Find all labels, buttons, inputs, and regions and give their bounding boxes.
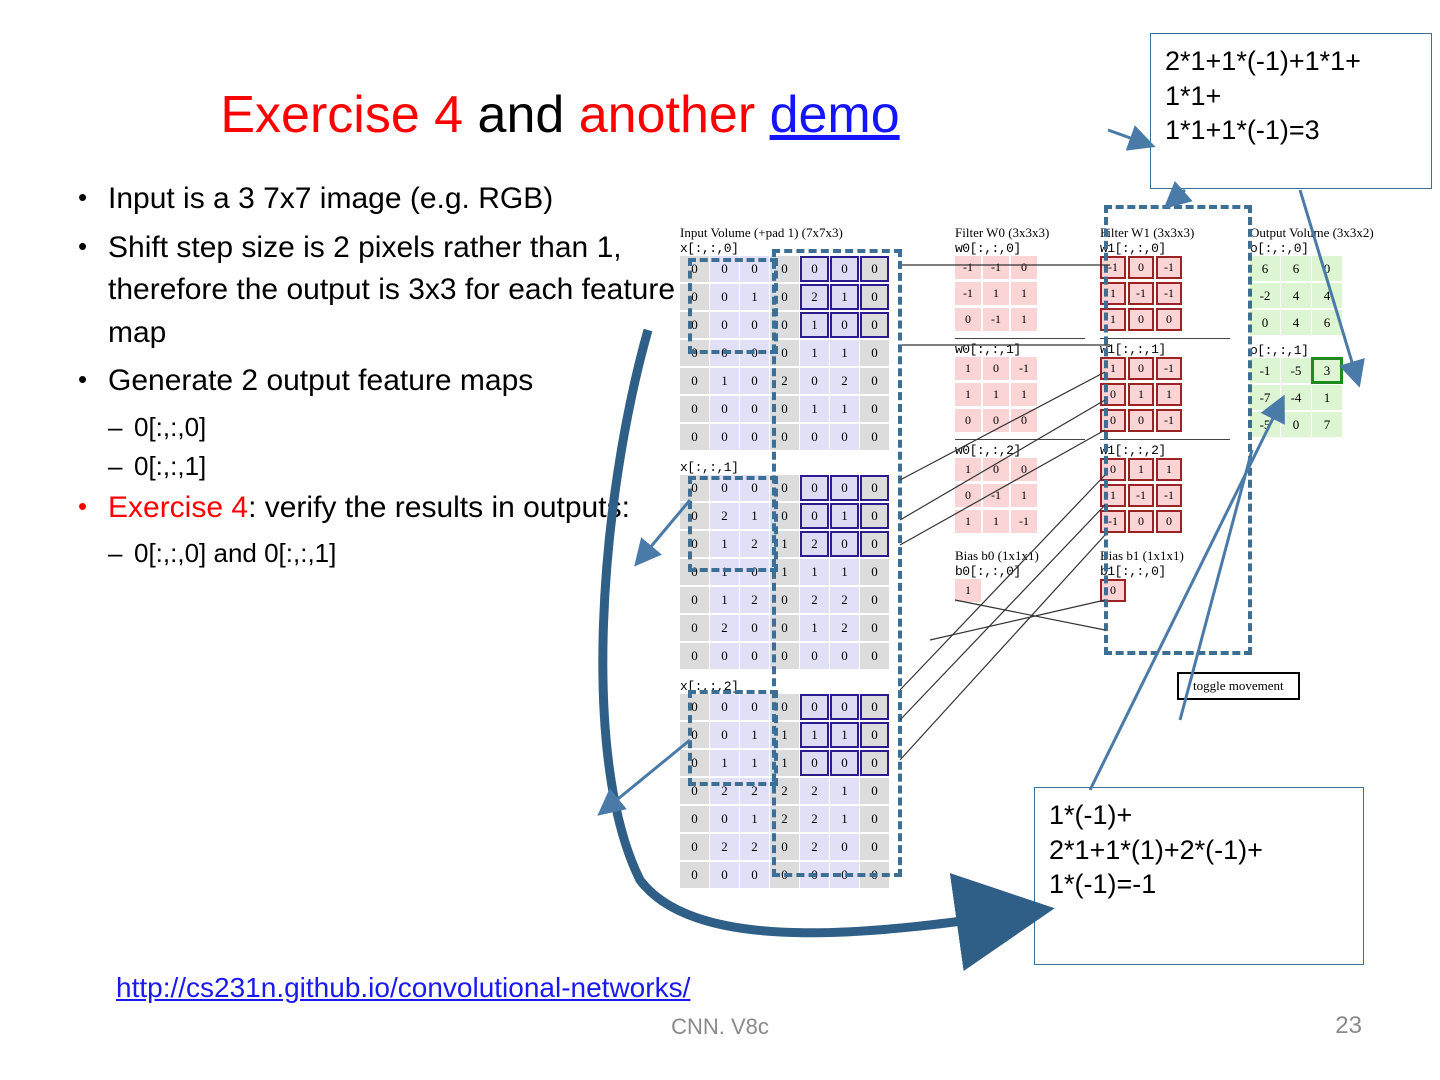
bullet-item-exercise: • Exercise 4: verify the results in outp… [78,487,678,530]
bullet-dot-icon: • [78,360,108,403]
spacer [680,671,905,679]
matrix-cell: 0 [1011,458,1037,481]
matrix-cell: 0 [710,722,739,748]
matrix-cell: 0 [1128,510,1154,533]
filter-w1-header: Filter W1 (3x3x3) [1100,225,1230,241]
matrix-cell: -1 [955,256,981,279]
filter-slice-label: w1[:,:,0] [1100,241,1230,256]
matrix-cell: 1 [1128,383,1154,406]
matrix-cell: 1 [830,722,859,748]
matrix-cell: 0 [1156,510,1182,533]
matrix-cell: 0 [740,368,769,394]
filter-w0-header: Filter W0 (3x3x3) [955,225,1085,241]
matrix-cell: 4 [1312,283,1342,308]
matrix-cell: -1 [983,256,1009,279]
filter-slice-label: w0[:,:,2] [955,443,1085,458]
matrix-cell: 1 [955,383,981,406]
annotation-top-box: 2*1+1*(-1)+1*1+ 1*1+ 1*1+1*(-1)=3 [1150,33,1432,189]
matrix-cell: 0 [710,694,739,720]
matrix-cell: 2 [740,531,769,557]
matrix-cell: 0 [740,475,769,501]
matrix-cell: 1 [830,284,859,310]
bullet-text: Exercise 4: verify the results in output… [108,487,678,530]
matrix-cell: 0 [1100,409,1126,432]
matrix-cell: 0 [680,615,709,641]
filter-w0-slices: w0[:,:,0]-1-10-1110-11w0[:,:,1]10-111100… [955,241,1085,536]
reference-link[interactable]: http://cs231n.github.io/convolutional-ne… [116,972,690,1004]
matrix-cell: 1 [983,383,1009,406]
matrix-cell: 0 [710,340,739,366]
matrix-grid: 0000000001021000001000000110010202000001… [680,256,905,452]
matrix-cell: 1 [1156,383,1182,406]
matrix-cell: 0 [770,615,799,641]
matrix-cell: 0 [710,643,739,669]
annotation-top-line-2: 1*1+ [1165,79,1417,114]
matrix-cell: 0 [800,643,829,669]
matrix-cell: 0 [860,424,889,450]
matrix-cell: 2 [800,284,829,310]
matrix-cell: 0 [860,694,889,720]
matrix-cell: 1 [1100,484,1126,507]
matrix-cell: 0 [800,694,829,720]
matrix-cell: 0 [1128,256,1154,279]
sub-bullet-item: – 0[:,:,0] [108,409,678,446]
title-part-another: another [579,86,770,144]
matrix-cell: -1 [1011,510,1037,533]
matrix-cell: 0 [860,396,889,422]
matrix-cell: -2 [1250,283,1280,308]
matrix-cell: 0 [680,722,709,748]
matrix-cell: 0 [770,256,799,282]
matrix-cell: 2 [800,587,829,613]
matrix-separator [955,338,1085,339]
matrix-cell: 0 [983,409,1009,432]
sub-bullet-text: 0[:,:,1] [134,448,678,485]
matrix-cell: 0 [740,862,769,888]
matrix-cell: 0 [680,284,709,310]
filter-w0-column: Filter W0 (3x3x3) w0[:,:,0]-1-10-1110-11… [955,225,1085,605]
matrix-cell: 0 [1100,383,1126,406]
matrix-grid: 10-1111000 [955,357,1085,435]
matrix-cell: -1 [1156,484,1182,507]
filter-slice-label: w0[:,:,0] [955,241,1085,256]
bullet-dot-icon: • [78,227,108,355]
matrix-cell: 0 [955,409,981,432]
matrix-cell: 1 [800,615,829,641]
matrix-cell: 1 [983,282,1009,305]
matrix-cell: -1 [983,484,1009,507]
matrix-cell: -1 [1128,282,1154,305]
matrix-cell: 1 [1011,282,1037,305]
demo-link[interactable]: demo [770,86,900,144]
matrix-cell: 0 [770,587,799,613]
matrix-cell: 2 [800,806,829,832]
footer-label: CNN. V8c [0,1014,1440,1040]
output-slice-label: o[:,:,0] [1250,241,1410,256]
matrix-cell: 1 [830,340,859,366]
matrix-cell: 0 [680,862,709,888]
matrix-cell: 0 [770,694,799,720]
matrix-cell: 0 [710,256,739,282]
matrix-cell: -4 [1281,385,1311,410]
matrix-cell: -1 [955,282,981,305]
matrix-cell: 1 [830,778,859,804]
matrix-cell: 1 [1011,308,1037,331]
matrix-cell: -1 [1156,256,1182,279]
matrix-cell: 0 [800,475,829,501]
matrix-cell: 0 [955,484,981,507]
matrix-cell: 2 [830,615,859,641]
matrix-cell: 0 [770,340,799,366]
matrix-cell: 1 [800,722,829,748]
matrix-cell: 0 [710,424,739,450]
matrix-cell: 0 [830,834,859,860]
matrix-cell: 0 [955,308,981,331]
bullet-text: Generate 2 output feature maps [108,360,678,403]
matrix-cell: 1 [800,396,829,422]
matrix-cell: 0 [680,475,709,501]
dash-icon: – [108,448,134,485]
matrix-cell: 1 [830,503,859,529]
matrix-cell: 0 [740,615,769,641]
matrix-cell: 2 [770,778,799,804]
matrix-cell: 0 [860,722,889,748]
exercise-rest: : verify the results in outputs: [248,491,630,524]
sub-bullet-item: – 0[:,:,0] and 0[:,:,1] [108,535,678,572]
matrix-cell: 0 [860,256,889,282]
matrix-grid: -1-53-7-41-507 [1250,358,1410,439]
matrix-cell: 0 [770,643,799,669]
matrix-cell: 0 [800,368,829,394]
matrix-cell: 0 [770,834,799,860]
matrix-cell: 0 [770,312,799,338]
matrix-cell: 1 [770,750,799,776]
matrix-cell: -1 [1156,409,1182,432]
matrix-cell: 0 [680,368,709,394]
matrix-cell: 4 [1281,310,1311,335]
matrix-cell: 1 [955,458,981,481]
matrix-cell: 1 [740,503,769,529]
input-slice-label: x[:,:,1] [680,460,905,475]
matrix-cell: 2 [710,778,739,804]
title-part-and: and [463,86,579,144]
dash-icon: – [108,409,134,446]
matrix-cell: 0 [680,694,709,720]
matrix-cell: 0 [770,862,799,888]
matrix-cell: 0 [830,424,859,450]
matrix-cell: 1 [1100,308,1126,331]
page-number: 23 [1335,1012,1362,1040]
matrix-cell: 2 [770,806,799,832]
matrix-cell: 0 [680,778,709,804]
bullet-item: • Input is a 3 7x7 image (e.g. RGB) [78,178,678,221]
matrix-grid: -10-11-1-1100 [1100,256,1230,334]
filter-slice-label: w0[:,:,1] [955,342,1085,357]
matrix-cell: 0 [740,312,769,338]
matrix-cell: -5 [1281,358,1311,383]
matrix-cell: 0 [830,312,859,338]
matrix-cell: 2 [710,503,739,529]
matrix-cell: 2 [710,834,739,860]
matrix-cell: 0 [800,503,829,529]
page-title: Exercise 4 and another demo [0,88,1120,143]
matrix-cell: 0 [740,694,769,720]
matrix-cell: 0 [680,256,709,282]
matrix-cell: 3 [1312,358,1342,383]
bias-b0-header: Bias b0 (1x1x1) [955,548,1085,564]
matrix-cell: -1 [1156,357,1182,380]
bullet-text: Input is a 3 7x7 image (e.g. RGB) [108,178,678,221]
matrix-cell: 0 [680,587,709,613]
matrix-cell: 1 [800,559,829,585]
matrix-cell: 6 [1312,310,1342,335]
matrix-cell: 0 [830,862,859,888]
matrix-cell: 1 [800,340,829,366]
annotation-bottom-line-2: 2*1+1*(1)+2*(-1)+ [1049,833,1349,868]
matrix-cell: 0 [680,312,709,338]
matrix-cell: 0 [740,643,769,669]
bias-b1-cell: 0 [1100,579,1126,602]
matrix-cell: 0 [680,750,709,776]
filter-w1-column: Filter W1 (3x3x3) w1[:,:,0]-10-11-1-1100… [1100,225,1230,605]
matrix-cell: 0 [680,834,709,860]
bias-b1-header: Bias b1 (1x1x1) [1100,548,1230,564]
matrix-grid: 660-244046 [1250,256,1410,337]
matrix-cell: 1 [710,559,739,585]
matrix-cell: 0 [1011,256,1037,279]
matrix-cell: 0 [710,806,739,832]
matrix-cell: 0 [740,424,769,450]
matrix-cell: 0 [1281,412,1311,437]
input-volume-header: Input Volume (+pad 1) (7x7x3) [680,225,905,241]
matrix-cell: 0 [740,559,769,585]
matrix-separator [955,439,1085,440]
matrix-cell: 1 [740,806,769,832]
matrix-cell: 7 [1312,412,1342,437]
input-slice-label: x[:,:,2] [680,679,905,694]
matrix-cell: 1 [955,357,981,380]
matrix-cell: 2 [830,368,859,394]
matrix-cell: 2 [770,368,799,394]
matrix-cell: 1 [1156,458,1182,481]
matrix-cell: 1 [770,722,799,748]
matrix-cell: 2 [800,778,829,804]
matrix-cell: 0 [860,643,889,669]
matrix-cell: 0 [1250,310,1280,335]
matrix-cell: 1 [770,531,799,557]
matrix-cell: 1 [1128,458,1154,481]
matrix-cell: -1 [1156,282,1182,305]
matrix-cell: 1 [710,368,739,394]
matrix-cell: 0 [770,396,799,422]
matrix-cell: 0 [860,778,889,804]
dash-icon: – [108,535,134,572]
matrix-cell: -1 [1011,357,1037,380]
matrix-cell: 0 [860,615,889,641]
matrix-cell: 0 [800,256,829,282]
matrix-cell: 0 [770,284,799,310]
matrix-cell: 0 [770,475,799,501]
matrix-separator [1100,439,1230,440]
matrix-cell: 1 [740,722,769,748]
matrix-cell: 2 [800,834,829,860]
bullet-dot-icon: • [78,178,108,221]
matrix-cell: 0 [1156,308,1182,331]
filter-slice-label: w1[:,:,1] [1100,342,1230,357]
matrix-grid: -1-10-1110-11 [955,256,1085,334]
bullet-item: • Shift step size is 2 pixels rather tha… [78,227,678,355]
output-volume-column: Output Volume (3x3x2) o[:,:,0]660-244046… [1250,225,1410,445]
matrix-cell: 0 [680,340,709,366]
matrix-cell: 2 [740,587,769,613]
matrix-cell: 1 [710,750,739,776]
matrix-cell: 1 [1312,385,1342,410]
matrix-cell: 0 [860,368,889,394]
matrix-cell: -1 [1250,358,1280,383]
matrix-cell: 6 [1281,256,1311,281]
annotation-top-line-3: 1*1+1*(-1)=3 [1165,113,1417,148]
bullet-dot-icon: • [78,487,108,530]
bullet-item: • Generate 2 output feature maps [78,360,678,403]
matrix-cell: 2 [830,587,859,613]
matrix-cell: 1 [983,510,1009,533]
spacer [680,452,905,460]
output-slices: o[:,:,0]660-244046o[:,:,1]-1-53-7-41-507 [1250,241,1410,445]
filter-w1-slices: w1[:,:,0]-10-11-1-1100w1[:,:,1]10-101100… [1100,241,1230,536]
matrix-cell: 0 [1312,256,1342,281]
matrix-cell: 4 [1281,283,1311,308]
matrix-cell: 1 [955,510,981,533]
matrix-cell: 0 [1128,357,1154,380]
matrix-cell: 0 [710,862,739,888]
matrix-cell: 2 [710,615,739,641]
matrix-separator [1100,338,1230,339]
annotation-bottom-line-3: 1*(-1)=-1 [1049,867,1349,902]
sub-bullet-item: – 0[:,:,1] [108,448,678,485]
output-volume-header: Output Volume (3x3x2) [1250,225,1410,241]
matrix-cell: 0 [830,750,859,776]
matrix-cell: 1 [740,750,769,776]
matrix-cell: 0 [740,256,769,282]
matrix-cell: 0 [800,862,829,888]
output-slice-label: o[:,:,1] [1250,343,1410,358]
matrix-cell: 0 [830,643,859,669]
matrix-cell: 0 [830,531,859,557]
bias-b0-cell: 1 [955,579,981,602]
matrix-cell: -7 [1250,385,1280,410]
matrix-cell: -1 [983,308,1009,331]
matrix-cell: 0 [860,806,889,832]
matrix-cell: 0 [860,834,889,860]
matrix-cell: 1 [1011,383,1037,406]
matrix-cell: 1 [740,284,769,310]
annotation-bottom-line-1: 1*(-1)+ [1049,798,1349,833]
matrix-cell: 0 [830,256,859,282]
matrix-cell: -1 [1100,510,1126,533]
matrix-cell: 0 [860,559,889,585]
arrow-topbox-to-filter [1168,190,1185,205]
matrix-cell: -1 [1100,256,1126,279]
matrix-cell: 0 [860,475,889,501]
matrix-cell: 0 [983,357,1009,380]
matrix-cell: 0 [680,806,709,832]
bias-b0-label: b0[:,:,0] [955,564,1085,579]
matrix-cell: 1 [710,531,739,557]
matrix-cell: 0 [860,531,889,557]
matrix-cell: 0 [770,424,799,450]
annotation-bottom-box: 1*(-1)+ 2*1+1*(1)+2*(-1)+ 1*(-1)=-1 [1034,787,1364,965]
arrow-to-bullet-outputs [602,740,690,812]
matrix-cell: 0 [860,587,889,613]
matrix-cell: 0 [860,340,889,366]
matrix-cell: 0 [800,424,829,450]
matrix-cell: 0 [680,424,709,450]
matrix-cell: 0 [830,694,859,720]
cs231n-conv-demo: Input Volume (+pad 1) (7x7x3) x[:,:,0]00… [680,225,1420,885]
matrix-cell: 0 [860,284,889,310]
matrix-cell: 0 [710,396,739,422]
matrix-cell: 0 [830,475,859,501]
matrix-cell: -5 [1250,412,1280,437]
matrix-cell: 1 [830,559,859,585]
matrix-grid: 0111-1-1-100 [1100,458,1230,536]
matrix-grid: 10-101100-1 [1100,357,1230,435]
matrix-cell: 2 [800,531,829,557]
input-volume-column: Input Volume (+pad 1) (7x7x3) x[:,:,0]00… [680,225,905,898]
matrix-grid: 1000-1111-1 [955,458,1085,536]
matrix-cell: 6 [1250,256,1280,281]
spacer [680,890,905,898]
matrix-cell: 0 [1100,458,1126,481]
matrix-cell: 1 [1100,282,1126,305]
matrix-cell: 0 [860,862,889,888]
matrix-cell: 1 [830,396,859,422]
sub-bullet-text: 0[:,:,0] [134,409,678,446]
matrix-cell: 0 [1011,409,1037,432]
input-slices: x[:,:,0]00000000010210000010000001100102… [680,241,905,898]
matrix-cell: 0 [860,312,889,338]
matrix-grid: 0000000021001001212000101110012022002001… [680,475,905,671]
matrix-cell: 1 [1100,357,1126,380]
matrix-cell: 0 [680,503,709,529]
matrix-cell: 0 [680,531,709,557]
matrix-cell: 0 [1128,308,1154,331]
matrix-cell: 1 [710,587,739,613]
matrix-grid: 0000000001111001110000222210001221002202… [680,694,905,890]
matrix-cell: -1 [1128,484,1154,507]
matrix-cell: 0 [680,643,709,669]
title-part-exercise: Exercise 4 [220,86,463,144]
matrix-cell: 0 [770,503,799,529]
spacer [1250,439,1410,445]
matrix-cell: 2 [740,834,769,860]
matrix-cell: 0 [710,312,739,338]
matrix-cell: 0 [860,750,889,776]
matrix-cell: 0 [983,458,1009,481]
bullet-text: Shift step size is 2 pixels rather than … [108,227,678,355]
bias-b1-label: b1[:,:,0] [1100,564,1230,579]
matrix-cell: 0 [710,475,739,501]
matrix-cell: 0 [680,396,709,422]
matrix-cell: 2 [740,778,769,804]
toggle-movement-button[interactable]: toggle movement [1177,672,1300,700]
matrix-cell: 0 [710,284,739,310]
matrix-cell: 1 [770,559,799,585]
sub-bullet-text: 0[:,:,0] and 0[:,:,1] [134,535,678,572]
annotation-top-line-1: 2*1+1*(-1)+1*1+ [1165,44,1417,79]
matrix-cell: 0 [1128,409,1154,432]
matrix-cell: 0 [860,503,889,529]
